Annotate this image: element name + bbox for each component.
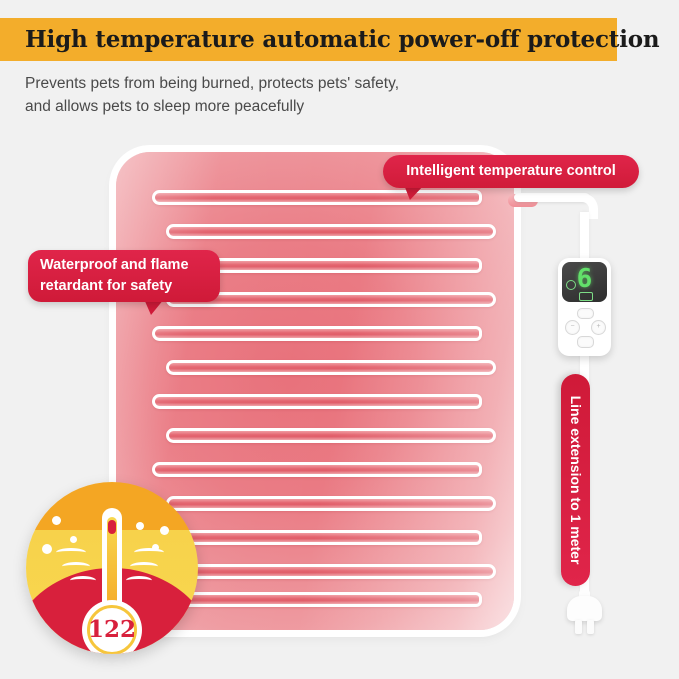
coil-wire (152, 190, 482, 205)
heat-wave (70, 576, 96, 585)
callout-waterproof-line-1: Waterproof and flame (40, 255, 220, 276)
heat-wave (56, 548, 86, 557)
page-title: High temperature automatic power-off pro… (25, 18, 665, 61)
heat-wave (62, 562, 90, 571)
coil-wire (166, 224, 496, 239)
increase-button[interactable]: + (591, 320, 606, 335)
sparkle-dot (42, 544, 52, 554)
sparkle-dot (136, 522, 144, 530)
page-subtitle: Prevents pets from being burned, protect… (25, 72, 545, 118)
callout-waterproof: Waterproof and flame retardant for safet… (28, 250, 220, 302)
coil-wire (166, 428, 496, 443)
coil-wire (152, 530, 482, 545)
subtitle-line-2: and allows pets to sleep more peacefully (25, 95, 545, 118)
heat-wave (130, 562, 158, 571)
coil-wire (152, 592, 482, 607)
infographic-page: High temperature automatic power-off pro… (0, 0, 679, 679)
heat-level-icon (579, 292, 593, 301)
temperature-badge: 122 (26, 482, 198, 654)
sparkle-dot (52, 516, 61, 525)
coil-wire (166, 360, 496, 375)
thermometer-top-marker (108, 520, 116, 534)
temperature-value: 122 (82, 600, 142, 654)
controller-display: 6 (562, 262, 607, 302)
sparkle-dot (70, 536, 77, 543)
callout-temperature-control: Intelligent temperature control (383, 155, 639, 188)
coil-wire (166, 496, 496, 511)
callout-waterproof-line-2: retardant for safety (40, 276, 220, 297)
plug-prong (587, 620, 594, 634)
sparkle-dot (160, 526, 169, 535)
heat-wave (126, 576, 152, 585)
callout-line-extension: Line extension to 1 meter (561, 374, 590, 586)
coil-wire (166, 564, 496, 579)
power-plug-icon (563, 590, 606, 635)
power-button[interactable] (577, 336, 594, 348)
subtitle-line-1: Prevents pets from being burned, protect… (25, 72, 545, 95)
mode-button[interactable] (577, 308, 594, 319)
plug-body (567, 596, 602, 621)
coil-wire (152, 394, 482, 409)
timer-icon (566, 280, 576, 290)
temperature-controller[interactable]: 6 − + (558, 258, 611, 356)
coil-wire (152, 326, 482, 341)
plug-prong (575, 620, 582, 634)
decrease-button[interactable]: − (565, 320, 580, 335)
heat-wave (134, 548, 164, 557)
coil-wire (152, 462, 482, 477)
